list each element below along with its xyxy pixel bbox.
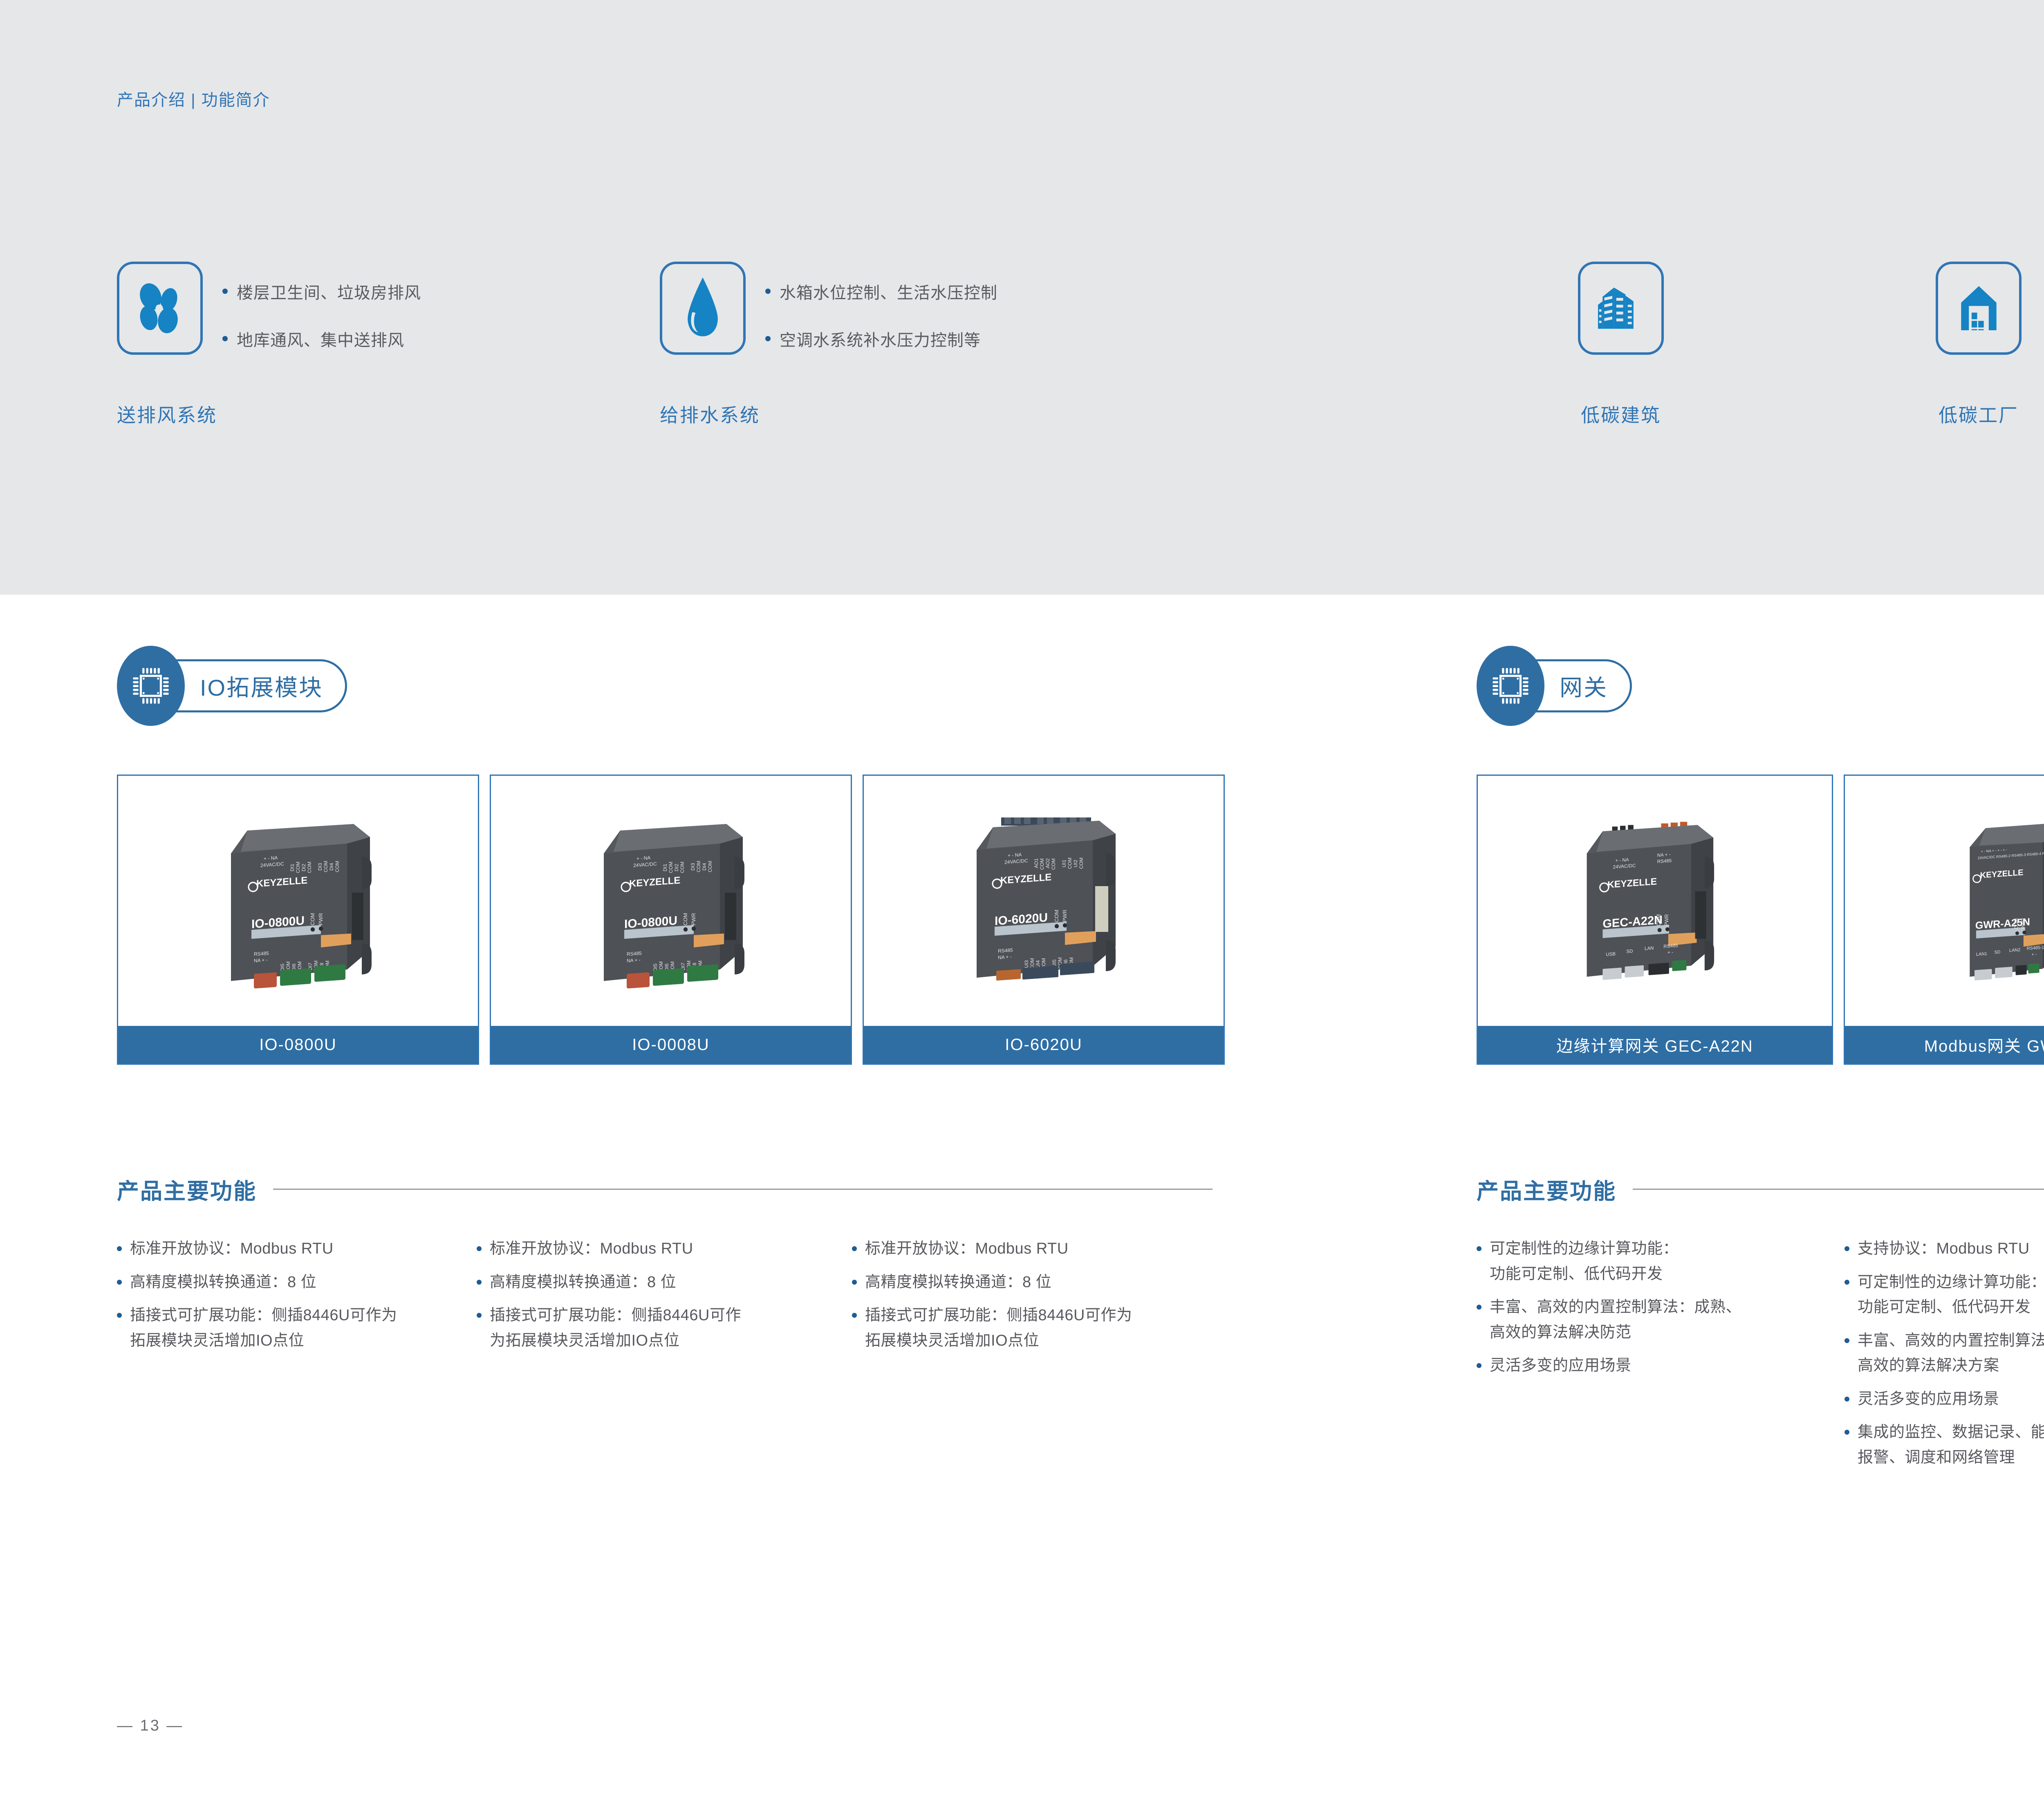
section-title-io: IO拓展模块 bbox=[200, 669, 323, 703]
svg-text:+ -: + - bbox=[2031, 952, 2037, 957]
fan-icon-box bbox=[117, 262, 203, 355]
bullet-text: 楼层卫生间、垃圾房排风 bbox=[237, 280, 421, 303]
svg-text:COM: COM bbox=[295, 862, 301, 873]
list-item: 可定制性的边缘计算功能： 功能可定制、低代码开发 bbox=[1845, 1270, 2044, 1320]
product-label: IO-6020U bbox=[864, 1026, 1224, 1064]
section-header-io: IO拓展模块 bbox=[117, 646, 347, 726]
product-label: Modbus网关 GWR-A25N bbox=[1845, 1026, 2044, 1064]
svg-text:RS485: RS485 bbox=[1657, 858, 1672, 864]
svg-text:COM: COM bbox=[682, 913, 688, 925]
svg-text:RS485: RS485 bbox=[254, 950, 269, 957]
feature-text: 灵活多变的应用场景 bbox=[1490, 1353, 1632, 1379]
svg-text:COM: COM bbox=[1078, 858, 1084, 869]
feature-column: 标准开放协议：Modbus RTU 高精度模拟转换通道：8 位 插接式可扩展功能… bbox=[477, 1236, 852, 1361]
bullet-dot-icon bbox=[1477, 1246, 1481, 1251]
svg-text:DI3: DI3 bbox=[317, 863, 323, 871]
scenario-ventilation-bullets: 楼层卫生间、垃圾房排风 地库通风、集中送排风 bbox=[222, 280, 421, 374]
svg-text:DI1: DI1 bbox=[289, 864, 295, 871]
scenario-caption: 送排风系统 bbox=[117, 401, 217, 428]
product-label: IO-0800U bbox=[118, 1026, 478, 1064]
product-label: IO-0008U bbox=[491, 1026, 851, 1064]
svg-text:COM: COM bbox=[323, 861, 329, 872]
bullet-dot-icon bbox=[1477, 1305, 1481, 1310]
svg-text:PWR: PWR bbox=[1664, 914, 1670, 926]
scenario-low-carbon-building: 低碳建筑 bbox=[1578, 262, 1664, 428]
heading-rule bbox=[273, 1189, 1213, 1190]
feature-text: 标准开放协议：Modbus RTU bbox=[130, 1236, 334, 1262]
bullet-dot-icon bbox=[765, 336, 771, 341]
scenario-caption: 低碳工厂 bbox=[1936, 401, 2022, 428]
scenario-row: 楼层卫生间、垃圾房排风 地库通风、集中送排风 送排风系统 水箱水 bbox=[0, 262, 2044, 490]
features-heading-io: 产品主要功能 bbox=[117, 1173, 1213, 1205]
bullet-dot-icon bbox=[117, 1280, 122, 1285]
bullet-dot-icon bbox=[117, 1246, 122, 1251]
list-item: 丰富、高效的内置控制算法：成熟、 高效的算法解决方案 bbox=[1845, 1328, 2044, 1379]
section-io-expansion-module: IO拓展模块 + - NA bbox=[0, 595, 1316, 1798]
list-item: 插接式可扩展功能：侧插8446U可作为 拓展模块灵活增加IO点位 bbox=[852, 1303, 1220, 1353]
bullet-dot-icon bbox=[1477, 1363, 1481, 1368]
svg-text:+ - NA: + - NA bbox=[264, 855, 278, 862]
feature-column: 支持协议：Modbus RTU 可定制性的边缘计算功能： 功能可定制、低代码开发… bbox=[1845, 1236, 2044, 1478]
svg-text:LAN1: LAN1 bbox=[1976, 952, 1987, 957]
scenario-water-bullets: 水箱水位控制、生活水压控制 空调水系统补水压力控制等 bbox=[765, 280, 997, 374]
list-item: 高精度模拟转换通道：8 位 bbox=[852, 1270, 1220, 1295]
feature-text: 可定制性的边缘计算功能： 功能可定制、低代码开发 bbox=[1858, 1270, 2044, 1320]
features-heading-gateway: 产品主要功能 bbox=[1477, 1173, 2044, 1205]
bullet-dot-icon bbox=[1845, 1397, 1849, 1402]
chip-icon bbox=[130, 665, 172, 707]
svg-text:COM: COM bbox=[696, 861, 702, 872]
factory-icon-box bbox=[1936, 262, 2022, 355]
list-item: 楼层卫生间、垃圾房排风 bbox=[222, 280, 421, 303]
product-photo: + - NA 24VAC/DC NA + - RS485 USB SD LAN … bbox=[1478, 776, 1832, 1026]
device-image-io-0800u: + - NA 24VAC/DC DI1 COM DI2 COM DI3 COM … bbox=[175, 795, 421, 1007]
bullet-dot-icon bbox=[1845, 1430, 1849, 1435]
feature-column: 可定制性的边缘计算功能： 功能可定制、低代码开发 丰富、高效的内置控制算法：成熟… bbox=[1477, 1236, 1845, 1478]
svg-text:NA + -: NA + - bbox=[254, 957, 268, 963]
bullet-text: 水箱水位控制、生活水压控制 bbox=[780, 280, 997, 303]
svg-text:AO2: AO2 bbox=[1045, 858, 1051, 868]
svg-text:UI1: UI1 bbox=[1061, 860, 1067, 867]
list-item: 丰富、高效的内置控制算法：成熟、 高效的算法解决防范 bbox=[1477, 1295, 1845, 1345]
scenario-ventilation: 楼层卫生间、垃圾房排风 地库通风、集中送排风 送排风系统 bbox=[117, 262, 217, 428]
features-title: 产品主要功能 bbox=[117, 1173, 257, 1205]
svg-text:COM: COM bbox=[1051, 858, 1056, 870]
feature-text: 丰富、高效的内置控制算法：成熟、 高效的算法解决防范 bbox=[1490, 1295, 1741, 1345]
feature-text: 高精度模拟转换通道：8 位 bbox=[490, 1270, 676, 1295]
svg-text:RS485: RS485 bbox=[998, 947, 1013, 954]
list-item: 支持协议：Modbus RTU bbox=[1845, 1236, 2044, 1262]
svg-text:+ -: + - bbox=[1667, 949, 1673, 955]
product-label: 边缘计算网关 GEC-A22N bbox=[1478, 1026, 1832, 1064]
svg-text:SD: SD bbox=[1626, 949, 1633, 954]
product-photo: + - NA 24VAC/DC DI1 COM DI2 COM DI3 COM … bbox=[118, 776, 478, 1026]
feature-text: 插接式可扩展功能：侧插8446U可作为 拓展模块灵活增加IO点位 bbox=[130, 1303, 397, 1353]
feature-text: 标准开放协议：Modbus RTU bbox=[490, 1236, 693, 1262]
svg-text:COM: COM bbox=[707, 861, 713, 872]
list-item: 水箱水位控制、生活水压控制 bbox=[765, 280, 997, 303]
section-header-gateway: 网关 bbox=[1477, 646, 1632, 726]
chip-icon-badge bbox=[1477, 646, 1544, 726]
feature-text: 支持协议：Modbus RTU bbox=[1858, 1236, 2030, 1262]
feature-columns-io: 标准开放协议：Modbus RTU 高精度模拟转换通道：8 位 插接式可扩展功能… bbox=[117, 1236, 1220, 1361]
fan-icon bbox=[129, 278, 191, 339]
svg-text:UI3: UI3 bbox=[1024, 960, 1029, 968]
svg-text:LAN2: LAN2 bbox=[2009, 947, 2020, 953]
svg-text:DI2: DI2 bbox=[674, 864, 679, 871]
feature-text: 集成的监控、数据记录、能耗计量、 报警、调度和网络管理 bbox=[1858, 1420, 2044, 1470]
device-image-io-6020u: + - NA 24VAC/DC AO1 COM AO2 COM UI1 COM … bbox=[921, 795, 1166, 1007]
bullet-dot-icon bbox=[1845, 1246, 1849, 1251]
feature-text: 高精度模拟转换通道：8 位 bbox=[130, 1270, 316, 1295]
list-item: 灵活多变的应用场景 bbox=[1845, 1387, 2044, 1412]
svg-text:UI4: UI4 bbox=[1035, 960, 1041, 968]
brochure-page: 产品介绍 | 功能简介 产品介绍 | 功能简介 楼层 bbox=[0, 0, 2044, 1798]
list-item: 空调水系统补水压力控制等 bbox=[765, 327, 997, 351]
scenario-caption: 低碳建筑 bbox=[1578, 401, 1664, 428]
feature-text: 标准开放协议：Modbus RTU bbox=[865, 1236, 1069, 1262]
list-item: 高精度模拟转换通道：8 位 bbox=[477, 1270, 852, 1295]
svg-text:RS485: RS485 bbox=[627, 950, 642, 957]
office-buildings-icon-box bbox=[1578, 262, 1664, 355]
scenario-low-carbon-factory: 低碳工厂 bbox=[1936, 262, 2022, 428]
list-item: 高精度模拟转换通道：8 位 bbox=[117, 1270, 477, 1295]
svg-text:UI2: UI2 bbox=[1073, 860, 1078, 867]
svg-text:NA + -: NA + - bbox=[627, 957, 641, 963]
factory-icon bbox=[1951, 278, 2006, 339]
feature-text: 可定制性的边缘计算功能： 功能可定制、低代码开发 bbox=[1490, 1236, 1679, 1287]
svg-text:COM: COM bbox=[307, 862, 312, 873]
product-photo: + - NA + - + - + - 24VAC/DC RS485-2 RS48… bbox=[1845, 776, 2044, 1026]
list-item: 插接式可扩展功能：侧插8446U可作为 拓展模块灵活增加IO点位 bbox=[117, 1303, 477, 1353]
svg-text:DI1: DI1 bbox=[662, 864, 668, 871]
svg-text:COM: COM bbox=[334, 861, 340, 872]
features-title: 产品主要功能 bbox=[1477, 1173, 1616, 1205]
feature-columns-gateway: 可定制性的边缘计算功能： 功能可定制、低代码开发 丰富、高效的内置控制算法：成熟… bbox=[1477, 1236, 2044, 1478]
feature-text: 插接式可扩展功能：侧插8446U可作 为拓展模块灵活增加IO点位 bbox=[490, 1303, 741, 1353]
svg-text:+ - NA: + - NA bbox=[1615, 857, 1629, 863]
product-card[interactable]: + - NA 24VAC/DC DI1 COM DI2 COM DI3 COM … bbox=[490, 775, 852, 1065]
svg-text:SD: SD bbox=[1994, 949, 2000, 955]
product-card[interactable]: + - NA + - + - + - 24VAC/DC RS485-2 RS48… bbox=[1844, 775, 2044, 1065]
bullet-text: 地库通风、集中送排风 bbox=[237, 327, 404, 351]
feature-column: 标准开放协议：Modbus RTU 高精度模拟转换通道：8 位 插接式可扩展功能… bbox=[852, 1236, 1220, 1361]
product-photo: + - NA 24VAC/DC DI1 COM DI2 COM DI3 COM … bbox=[491, 776, 851, 1026]
bullet-dot-icon bbox=[477, 1313, 482, 1318]
bullet-dot-icon bbox=[852, 1313, 857, 1318]
section-title-gateway: 网关 bbox=[1560, 669, 1608, 703]
svg-text:NA + -: NA + - bbox=[998, 954, 1012, 961]
svg-text:DI4: DI4 bbox=[702, 863, 707, 871]
bullet-dot-icon bbox=[222, 289, 228, 294]
list-item: 标准开放协议：Modbus RTU bbox=[477, 1236, 852, 1262]
svg-text:+ - NA: + - NA bbox=[1008, 852, 1022, 858]
svg-text:COM: COM bbox=[679, 862, 685, 873]
svg-text:RS485: RS485 bbox=[1663, 943, 1678, 949]
product-card[interactable]: + - NA 24VAC/DC NA + - RS485 USB SD LAN … bbox=[1477, 775, 1833, 1065]
bullet-dot-icon bbox=[117, 1313, 122, 1318]
list-item: 地库通风、集中送排风 bbox=[222, 327, 421, 351]
svg-text:PWR: PWR bbox=[690, 913, 697, 925]
feature-text: 丰富、高效的内置控制算法：成熟、 高效的算法解决方案 bbox=[1858, 1328, 2044, 1379]
product-card-list-gateway: + - NA 24VAC/DC NA + - RS485 USB SD LAN … bbox=[1477, 775, 2044, 1065]
device-image-gwr-a25n: + - NA + - + - + - 24VAC/DC RS485-2 RS48… bbox=[1903, 795, 2044, 1007]
heading-rule bbox=[1633, 1189, 2044, 1190]
bullet-dot-icon bbox=[852, 1246, 857, 1251]
feature-text: 插接式可扩展功能：侧插8446U可作为 拓展模块灵活增加IO点位 bbox=[865, 1303, 1132, 1353]
office-buildings-icon bbox=[1592, 278, 1650, 339]
chip-icon-badge bbox=[117, 646, 185, 726]
bullet-dot-icon bbox=[1845, 1338, 1849, 1343]
water-drop-icon bbox=[676, 275, 729, 341]
bullet-text: 空调水系统补水压力控制等 bbox=[780, 327, 981, 351]
bullet-dot-icon bbox=[852, 1280, 857, 1285]
bullet-dot-icon bbox=[477, 1246, 482, 1251]
svg-text:AO1: AO1 bbox=[1033, 858, 1039, 868]
list-item: 插接式可扩展功能：侧插8446U可作 为拓展模块灵活增加IO点位 bbox=[477, 1303, 852, 1353]
bullet-dot-icon bbox=[222, 336, 228, 341]
svg-text:COM: COM bbox=[1067, 858, 1073, 869]
product-card[interactable]: + - NA 24VAC/DC AO1 COM AO2 COM UI1 COM … bbox=[863, 775, 1225, 1065]
device-image-io-0008u: + - NA 24VAC/DC DI1 COM DI2 COM DI3 COM … bbox=[548, 795, 793, 1007]
svg-text:DI4: DI4 bbox=[329, 863, 334, 871]
water-drop-icon-box bbox=[660, 262, 746, 355]
running-head-left: 产品介绍 | 功能简介 bbox=[117, 87, 270, 110]
feature-text: 高精度模拟转换通道：8 位 bbox=[865, 1270, 1051, 1295]
svg-text:DI5: DI5 bbox=[280, 963, 285, 971]
feature-column: 标准开放协议：Modbus RTU 高精度模拟转换通道：8 位 插接式可扩展功能… bbox=[117, 1236, 477, 1361]
svg-text:USB: USB bbox=[1606, 951, 1616, 957]
svg-text:LAN: LAN bbox=[1645, 945, 1654, 952]
svg-text:+ - NA: + - NA bbox=[637, 855, 650, 862]
svg-text:NA + -: NA + - bbox=[1657, 852, 1671, 858]
svg-text:COM: COM bbox=[309, 913, 316, 925]
svg-text:COM: COM bbox=[668, 862, 674, 873]
scenario-water-supply: 水箱水位控制、生活水压控制 空调水系统补水压力控制等 给排水系统 bbox=[660, 262, 760, 428]
page-number-left: — 13 — bbox=[117, 1717, 184, 1735]
scenario-caption: 给排水系统 bbox=[660, 401, 760, 428]
list-item: 灵活多变的应用场景 bbox=[1477, 1353, 1845, 1379]
device-image-gec-a22n: + - NA 24VAC/DC NA + - RS485 USB SD LAN … bbox=[1536, 795, 1773, 1007]
bullet-dot-icon bbox=[477, 1280, 482, 1285]
list-item: 标准开放协议：Modbus RTU bbox=[852, 1236, 1220, 1262]
svg-text:DI5: DI5 bbox=[652, 963, 658, 971]
svg-text:PWR: PWR bbox=[1062, 910, 1068, 922]
feature-text: 灵活多变的应用场景 bbox=[1858, 1387, 1999, 1412]
chip-icon bbox=[1489, 665, 1532, 707]
section-gateway: 网关 bbox=[1317, 595, 2044, 1798]
bullet-dot-icon bbox=[1845, 1280, 1849, 1285]
bullet-dot-icon bbox=[765, 289, 771, 294]
product-photo: + - NA 24VAC/DC AO1 COM AO2 COM UI1 COM … bbox=[864, 776, 1224, 1026]
svg-text:COM: COM bbox=[1039, 858, 1045, 870]
product-card[interactable]: + - NA 24VAC/DC DI1 COM DI2 COM DI3 COM … bbox=[117, 775, 479, 1065]
list-item: 集成的监控、数据记录、能耗计量、 报警、调度和网络管理 bbox=[1845, 1420, 2044, 1470]
svg-text:COM: COM bbox=[1053, 910, 1060, 922]
list-item: 可定制性的边缘计算功能： 功能可定制、低代码开发 bbox=[1477, 1236, 1845, 1287]
svg-text:DI3: DI3 bbox=[690, 863, 696, 871]
product-card-list-io: + - NA 24VAC/DC DI1 COM DI2 COM DI3 COM … bbox=[117, 775, 1225, 1065]
list-item: 标准开放协议：Modbus RTU bbox=[117, 1236, 477, 1262]
svg-text:PWR: PWR bbox=[318, 913, 324, 925]
svg-text:DI2: DI2 bbox=[301, 864, 307, 871]
